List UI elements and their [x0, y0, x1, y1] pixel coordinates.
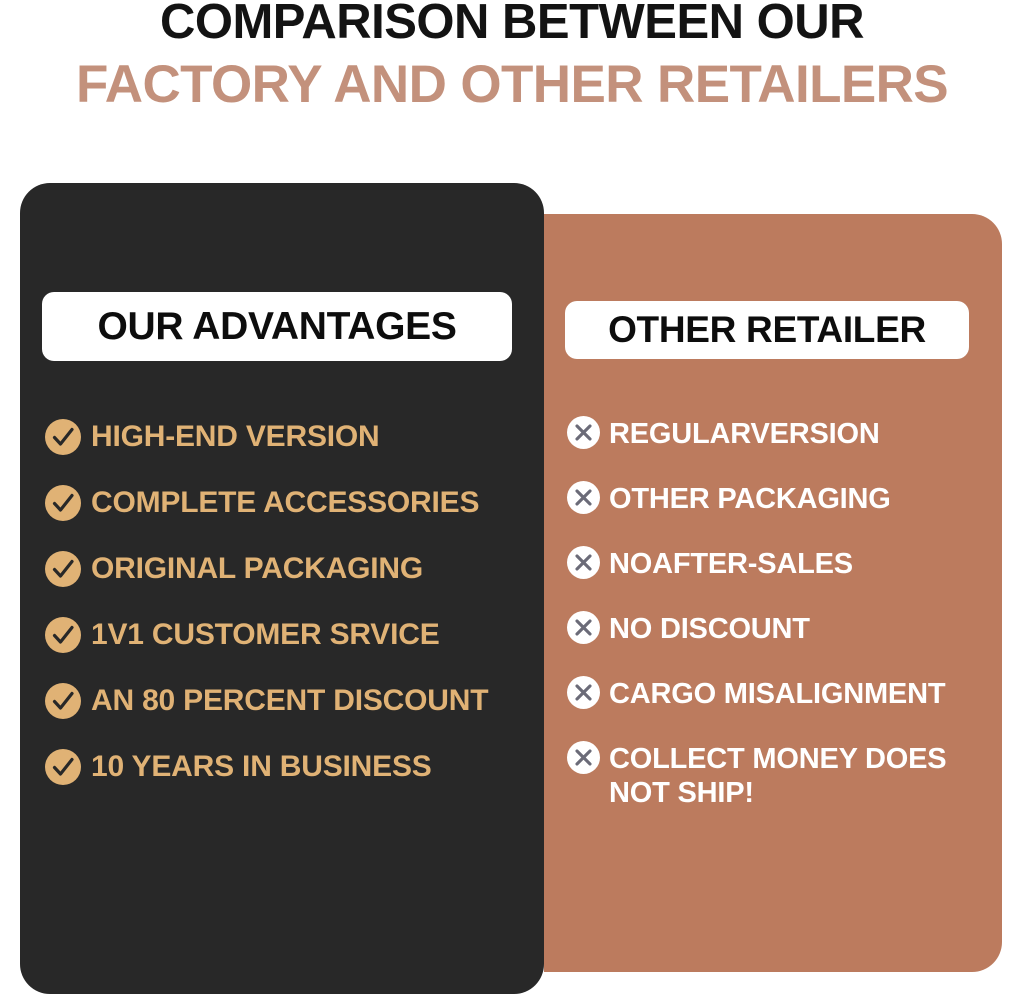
list-item: 10 YEARS IN BUSINESS — [44, 748, 524, 786]
cross-circle-icon — [566, 610, 601, 645]
page-title: COMPARISON BETWEEN OUR FACTORY AND OTHER… — [0, 0, 1024, 118]
cross-circle-icon — [566, 675, 601, 710]
list-item: AN 80 PERCENT DISCOUNT — [44, 682, 524, 720]
list-item: NO DISCOUNT — [566, 610, 991, 646]
list-item-label: COLLECT MONEY DOES NOT SHIP! — [609, 740, 991, 810]
check-circle-icon — [44, 682, 82, 720]
our-advantages-badge: OUR ADVANTAGES — [42, 292, 512, 361]
list-item: COMPLETE ACCESSORIES — [44, 484, 524, 522]
list-item-label: REGULARVERSION — [609, 415, 880, 451]
list-item-label: CARGO MISALIGNMENT — [609, 675, 945, 711]
list-item-label: COMPLETE ACCESSORIES — [91, 484, 479, 520]
list-item-label: AN 80 PERCENT DISCOUNT — [91, 682, 488, 718]
list-item: CARGO MISALIGNMENT — [566, 675, 991, 711]
check-circle-icon — [44, 418, 82, 456]
cross-circle-icon — [566, 740, 601, 775]
list-item-label: 10 YEARS IN BUSINESS — [91, 748, 432, 784]
list-item-label: NOAFTER-SALES — [609, 545, 853, 581]
our-advantages-badge-label: OUR ADVANTAGES — [97, 305, 456, 349]
other-retailer-badge-label: OTHER RETAILER — [608, 309, 926, 351]
list-item: ORIGINAL PACKAGING — [44, 550, 524, 588]
list-item: NOAFTER-SALES — [566, 545, 991, 581]
other-retailer-list: REGULARVERSION OTHER PACKAGING NOAFTER-S… — [566, 415, 991, 839]
list-item-label: 1V1 CUSTOMER SRVICE — [91, 616, 440, 652]
cross-circle-icon — [566, 480, 601, 515]
page-title-line-1: COMPARISON BETWEEN OUR — [0, 0, 1024, 52]
cross-circle-icon — [566, 415, 601, 450]
list-item-label: OTHER PACKAGING — [609, 480, 891, 516]
cross-circle-icon — [566, 545, 601, 580]
check-circle-icon — [44, 748, 82, 786]
other-retailer-badge: OTHER RETAILER — [565, 301, 969, 359]
list-item: HIGH-END VERSION — [44, 418, 524, 456]
our-advantages-list: HIGH-END VERSION COMPLETE ACCESSORIES OR… — [44, 418, 524, 814]
check-circle-icon — [44, 550, 82, 588]
comparison-infographic: COMPARISON BETWEEN OUR FACTORY AND OTHER… — [0, 0, 1024, 1004]
check-circle-icon — [44, 616, 82, 654]
list-item: 1V1 CUSTOMER SRVICE — [44, 616, 524, 654]
list-item-label: HIGH-END VERSION — [91, 418, 380, 454]
list-item-label: NO DISCOUNT — [609, 610, 810, 646]
list-item: OTHER PACKAGING — [566, 480, 991, 516]
list-item: REGULARVERSION — [566, 415, 991, 451]
list-item-label: ORIGINAL PACKAGING — [91, 550, 423, 586]
check-circle-icon — [44, 484, 82, 522]
page-title-line-2: FACTORY AND OTHER RETAILERS — [0, 52, 1024, 118]
list-item: COLLECT MONEY DOES NOT SHIP! — [566, 740, 991, 810]
